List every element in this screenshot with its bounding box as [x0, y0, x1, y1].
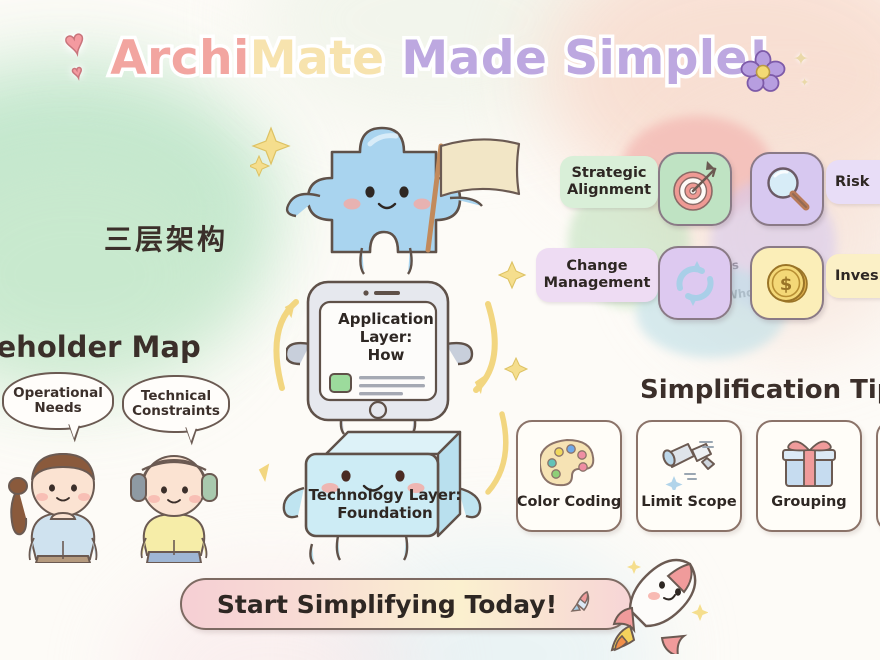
speech-bubble-technical-constraints: Technical Constraints [122, 375, 230, 433]
flower-icon [740, 50, 786, 96]
cta-banner-text: Start Simplifying Today! [217, 590, 557, 619]
application-layer-line-1: Application [328, 310, 444, 328]
sparkle-icon-stack-lower-right [504, 356, 530, 382]
page-title: ♥ ♥ ArchiMate Made Simple! ✦ ✦ [0, 18, 880, 98]
tip-icon-wrapper [540, 432, 598, 494]
svg-text:$: $ [780, 274, 793, 295]
magnifier-icon [760, 162, 814, 216]
card-tile-risk[interactable] [750, 152, 824, 226]
card-tile-strategic-alignment[interactable] [658, 152, 732, 226]
card-label-risk[interactable]: Risk [826, 160, 880, 204]
technology-layer-line-1: Technology Layer: [284, 486, 486, 504]
heart-icon-small: ♥ [70, 61, 85, 84]
palette-icon [540, 436, 598, 490]
simplification-tips-row: Color Coding Limit Scope [516, 420, 880, 532]
simplification-tips-title: Simplification Tips [640, 375, 880, 405]
gift-box-icon [780, 436, 838, 490]
tip-icon-wrapper [780, 432, 838, 494]
card-tile-change-management[interactable] [658, 246, 732, 320]
telescope-icon [659, 436, 719, 490]
bubble-line-2: Constraints [132, 404, 220, 419]
card-label-line-1: Inves [835, 268, 879, 284]
tip-card-grouping[interactable]: Grouping [756, 420, 862, 532]
card-label-line-1: Risk [835, 174, 869, 190]
tip-card-partial[interactable] [876, 420, 880, 532]
heart-icon-large: ♥ [61, 22, 89, 64]
card-tile-investment[interactable]: $ [750, 246, 824, 320]
rocket-character-icon [604, 558, 708, 654]
sparkle-icon-large: ✦ [793, 48, 809, 71]
architecture-label: 三层架构 [104, 218, 228, 258]
man-headphones-character [112, 430, 237, 563]
speech-bubble-operational-needs: Operational Needs [2, 372, 114, 430]
bubble-line-1: Technical [141, 389, 211, 404]
card-label-line-1: Change [544, 258, 651, 275]
card-label-line-2: Management [544, 275, 651, 292]
application-layer-line-3: How [328, 346, 444, 364]
tip-label: Color Coding [517, 494, 621, 510]
card-label-strategic-alignment[interactable]: Strategic Alignment [560, 156, 658, 208]
title-part-mate: Mate [250, 31, 385, 86]
title-text-group: ArchiMate Made Simple! [110, 31, 770, 86]
technology-layer-label: Technology Layer: Foundation [284, 486, 486, 522]
target-icon [667, 161, 723, 217]
cta-banner[interactable]: Start Simplifying Today! [180, 578, 632, 630]
title-part-archi: Archi [110, 31, 249, 86]
coin-dollar-icon: $ [761, 257, 813, 309]
woman-ponytail-character [0, 428, 128, 563]
business-layer-flag [408, 130, 558, 260]
card-label-investment[interactable]: Inves [826, 254, 880, 298]
infographic-canvas: ♥ ♥ ArchiMate Made Simple! ✦ ✦ 三层架构 keho… [0, 0, 880, 660]
tip-label: Limit Scope [641, 494, 736, 510]
quadrant-section: Strategic Alignment [540, 120, 880, 350]
card-label-change-management[interactable]: Change Management [536, 248, 658, 302]
three-layer-stack: Business Layer: What & Who Application [240, 118, 530, 558]
bubble-line-2: Needs [34, 401, 81, 416]
stakeholder-map-title: keholder Map [0, 330, 201, 364]
application-layer-line-2: Layer: [328, 328, 444, 346]
refresh-cycle-icon [669, 257, 721, 309]
tip-label: Grouping [771, 494, 846, 510]
bubble-line-1: Operational [13, 386, 103, 401]
tip-card-limit-scope[interactable]: Limit Scope [636, 420, 742, 532]
application-layer-label: Application Layer: How [328, 310, 444, 364]
title-part-made-simple: Made Simple! [385, 31, 770, 86]
tip-icon-wrapper [659, 432, 719, 494]
sparkle-icon-stack-right [498, 260, 528, 290]
technology-layer-line-2: Foundation [284, 504, 486, 522]
small-rocket-icon [565, 589, 595, 619]
card-label-line-1: Strategic [567, 165, 651, 182]
card-label-line-2: Alignment [567, 182, 651, 199]
tip-card-color-coding[interactable]: Color Coding [516, 420, 622, 532]
sparkle-icon-small: ✦ [800, 76, 809, 89]
